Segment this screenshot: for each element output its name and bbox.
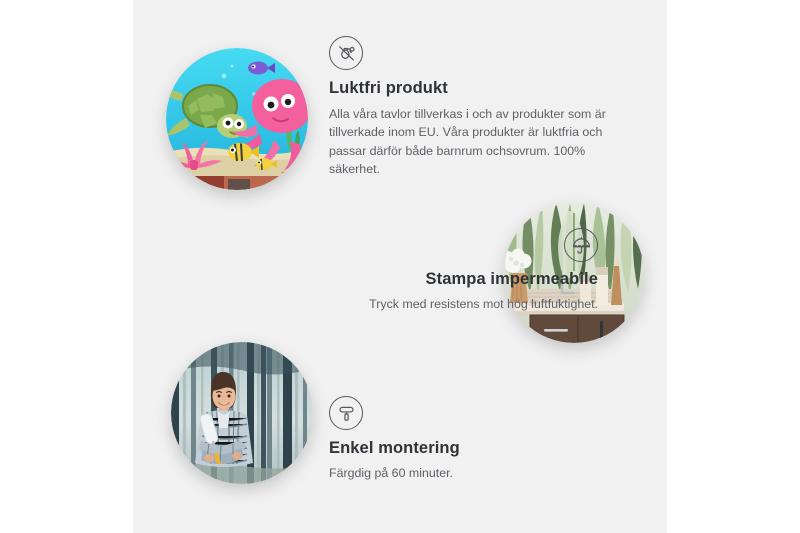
feature-title: Stampa impermeabile: [193, 270, 598, 289]
feature-body: Alla våra tavlor tillverkas i och av pro…: [329, 105, 621, 178]
feature-title: Enkel montering: [329, 439, 629, 458]
umbrella-icon: [564, 228, 598, 262]
feature-body: Färgdig på 60 minuter.: [329, 464, 629, 482]
infographic-canvas: Luktfri produkt Alla våra tavlor tillver…: [0, 0, 800, 533]
feature-title: Luktfri produkt: [329, 79, 629, 98]
feature-body: Tryck med resistens mot hög luftfuktighe…: [193, 295, 598, 313]
paint-roller-icon: [329, 396, 363, 430]
photo-ocean-mural: [166, 48, 308, 190]
feature-waterproof-print: Stampa impermeabile Tryck med resistens …: [193, 228, 598, 313]
feature-odour-free: Luktfri produkt Alla våra tavlor tillver…: [329, 36, 629, 178]
feature-easy-assembly: Enkel montering Färgdig på 60 minuter.: [329, 396, 629, 482]
no-fragrance-spray-bottle-icon: [329, 36, 363, 70]
content-panel: Luktfri produkt Alla våra tavlor tillver…: [133, 0, 667, 533]
photo-forest-installer: [171, 342, 313, 484]
